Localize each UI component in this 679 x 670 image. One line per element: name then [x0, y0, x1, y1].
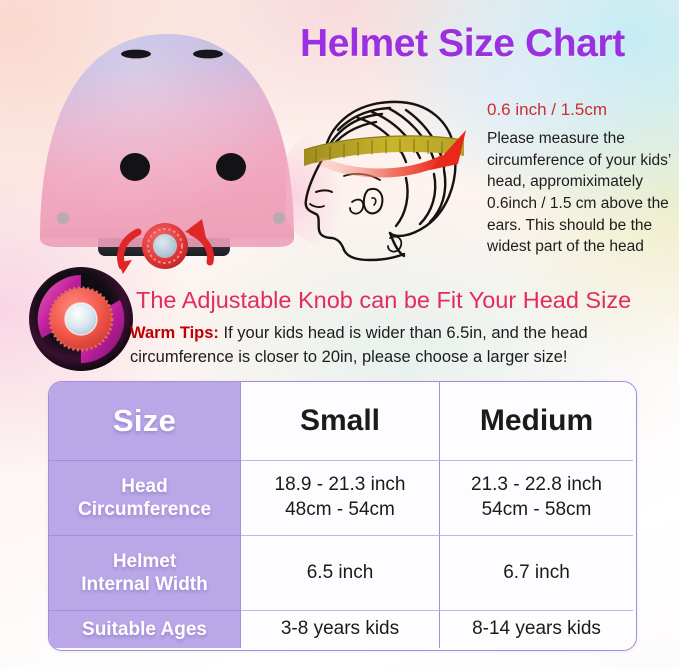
cell-line2: 54cm - 58cm — [482, 499, 592, 520]
helmet-hole-right — [216, 153, 246, 181]
helmet-rear-view-icon — [22, 14, 312, 274]
helmet-adjustment-knob — [142, 223, 188, 269]
cell-head-circumference-medium: 21.3 - 22.8 inch 54cm - 58cm — [440, 461, 633, 536]
measure-instructions: Please measure the circumference of your… — [487, 128, 677, 258]
head-measurement-diagram — [286, 78, 501, 273]
table-header-row: Size Small Medium — [49, 382, 636, 461]
cell-line2: 48cm - 54cm — [285, 499, 395, 520]
measure-offset-label: 0.6 inch / 1.5cm — [487, 100, 677, 120]
table-header-small: Small — [241, 382, 440, 461]
adjustable-knob-icon — [28, 266, 134, 372]
cell-head-circumference-small: 18.9 - 21.3 inch 48cm - 54cm — [241, 461, 440, 536]
table-row: Suitable Ages 3-8 years kids 8-14 years … — [49, 611, 636, 648]
row-label-suitable-ages: Suitable Ages — [49, 611, 241, 648]
helmet-rivet-left — [57, 212, 69, 224]
helmet-image — [22, 14, 312, 274]
row-label-line1: Helmet — [113, 551, 176, 572]
head-profile-with-measuring-tape-icon — [286, 78, 501, 273]
table-row: Helmet Internal Width 6.5 inch 6.7 inch — [49, 536, 636, 611]
cell-suitable-ages-medium: 8-14 years kids — [440, 611, 633, 648]
helmet-hole-left — [120, 153, 150, 181]
cell-helmet-internal-width-medium: 6.7 inch — [440, 536, 633, 611]
helmet-size-chart-page: Helmet Size Chart — [0, 0, 679, 670]
cell-suitable-ages-small: 3-8 years kids — [241, 611, 440, 648]
cell-helmet-internal-width-small: 6.5 inch — [241, 536, 440, 611]
warm-tips-text: Warm Tips: If your kids head is wider th… — [130, 322, 675, 370]
size-chart-table: Size Small Medium Head Circumference 18.… — [48, 381, 637, 651]
row-label-line2: Internal Width — [81, 574, 208, 595]
adjustable-knob-headline: The Adjustable Knob can be Fit Your Head… — [136, 287, 676, 314]
table-header-medium: Medium — [440, 382, 633, 461]
helmet-shell-highlight — [40, 34, 294, 238]
warm-tips-label: Warm Tips: — [130, 324, 219, 342]
row-label-line1: Head — [121, 476, 167, 497]
table-header-small-label: Small — [300, 404, 380, 438]
row-label-line2: Circumference — [78, 499, 211, 520]
row-label-helmet-internal-width: Helmet Internal Width — [49, 536, 241, 611]
cell-line1: 21.3 - 22.8 inch — [471, 474, 602, 495]
helmet-vent-left — [121, 50, 151, 59]
page-title: Helmet Size Chart — [300, 22, 660, 66]
helmet-rivet-right — [273, 212, 285, 224]
table-header-size: Size — [49, 382, 241, 461]
helmet-vent-right — [193, 50, 223, 59]
row-label-line1: Suitable Ages — [82, 618, 207, 641]
table-header-medium-label: Medium — [480, 404, 593, 438]
adjustable-knob-photo — [28, 266, 134, 372]
cell-line1: 18.9 - 21.3 inch — [275, 474, 406, 495]
table-row: Head Circumference 18.9 - 21.3 inch 48cm… — [49, 461, 636, 536]
table-header-size-label: Size — [113, 403, 176, 439]
row-label-head-circumference: Head Circumference — [49, 461, 241, 536]
